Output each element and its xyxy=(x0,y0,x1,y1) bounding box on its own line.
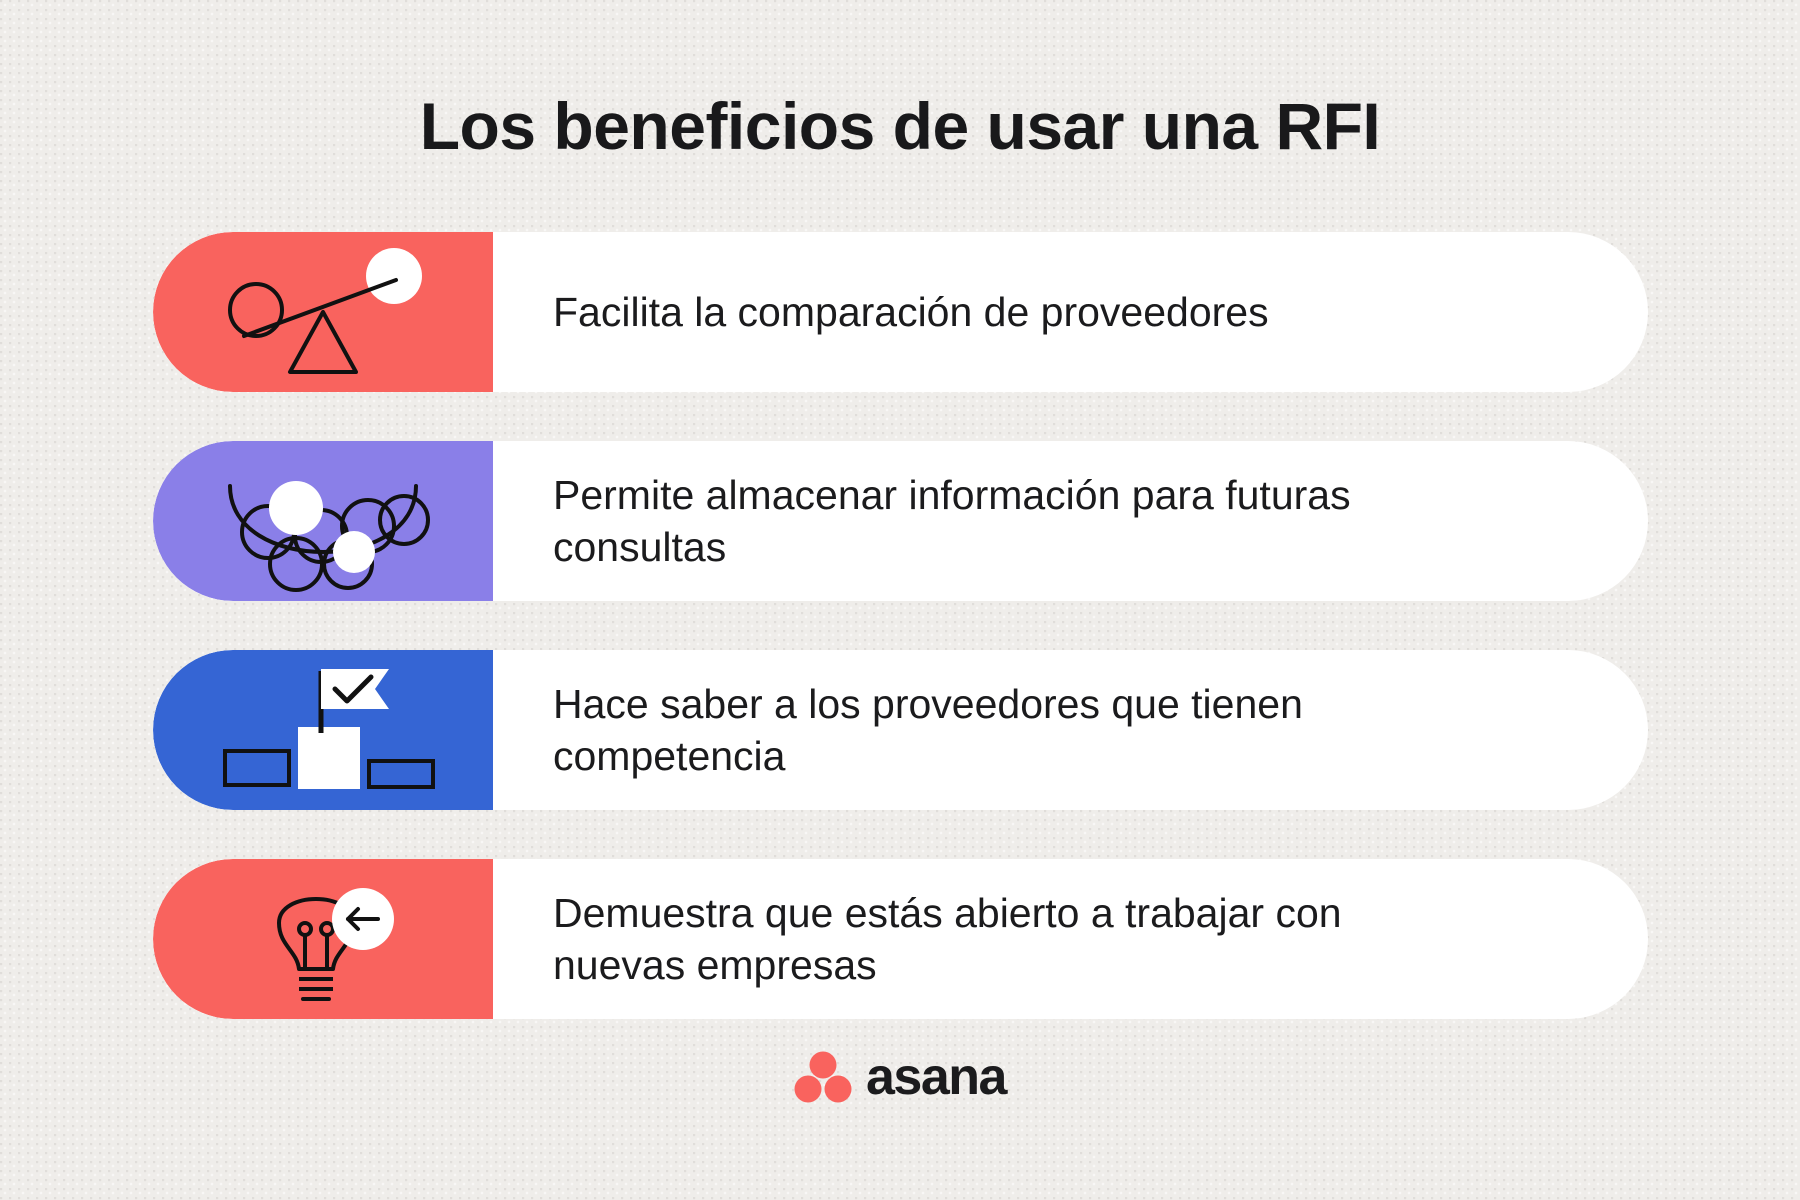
benefit-icon-pane-2 xyxy=(153,441,493,601)
benefit-icon-pane-3 xyxy=(153,650,493,810)
benefit-text: Permite almacenar información para futur… xyxy=(553,469,1453,574)
bowl-of-spheres-icon xyxy=(208,446,438,596)
lightbulb-arrow-icon xyxy=(213,859,433,1019)
benefit-text-pane-3: Hace saber a los proveedores que tienen … xyxy=(493,650,1648,810)
benefit-icon-pane-4 xyxy=(153,859,493,1019)
benefit-text: Demuestra que estás abierto a trabajar c… xyxy=(553,887,1453,992)
asana-logo-icon xyxy=(794,1050,852,1104)
benefits-list: Facilita la comparación de proveedores xyxy=(153,232,1648,1068)
benefit-text: Hace saber a los proveedores que tienen … xyxy=(553,678,1453,783)
benefit-icon-pane-1 xyxy=(153,232,493,392)
footer: asana xyxy=(0,1050,1800,1104)
list-item: Demuestra que estás abierto a trabajar c… xyxy=(153,859,1648,1019)
infographic-page: Los beneficios de usar una RFI Facilita … xyxy=(0,0,1800,1200)
benefit-text-pane-4: Demuestra que estás abierto a trabajar c… xyxy=(493,859,1648,1019)
benefit-text-pane-2: Permite almacenar información para futur… xyxy=(493,441,1648,601)
page-title: Los beneficios de usar una RFI xyxy=(0,88,1800,164)
balance-scale-icon xyxy=(198,232,448,392)
list-item: Facilita la comparación de proveedores xyxy=(153,232,1648,392)
list-item: Hace saber a los proveedores que tienen … xyxy=(153,650,1648,810)
benefit-text: Facilita la comparación de proveedores xyxy=(553,286,1269,338)
benefit-text-pane-1: Facilita la comparación de proveedores xyxy=(493,232,1648,392)
asana-wordmark: asana xyxy=(866,1051,1006,1103)
list-item: Permite almacenar información para futur… xyxy=(153,441,1648,601)
podium-flag-icon xyxy=(203,655,443,805)
